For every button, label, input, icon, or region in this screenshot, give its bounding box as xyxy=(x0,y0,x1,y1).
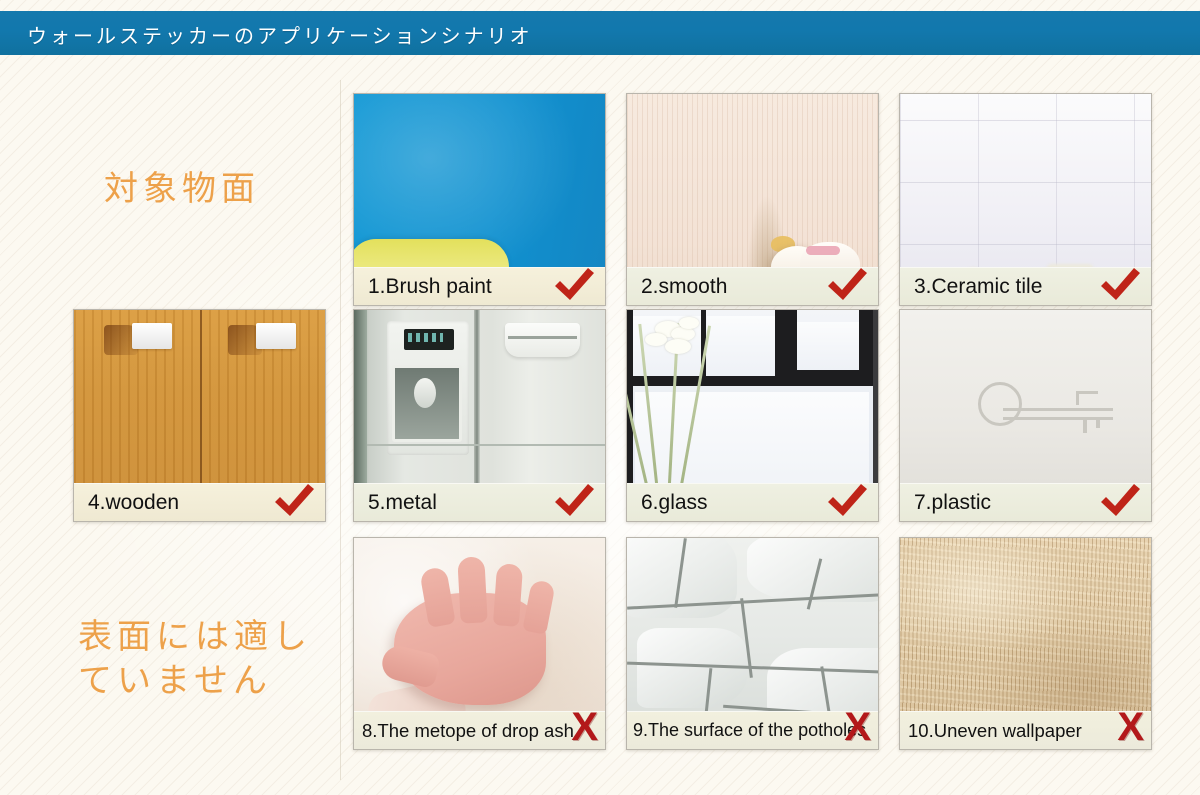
list-item[interactable]: PUSH 7.plastic xyxy=(899,309,1152,522)
caption-bar: 6.glass xyxy=(627,483,878,521)
check-mark-icon xyxy=(824,483,870,520)
caption-bar: 8.The metope of drop ash xyxy=(354,711,605,749)
check-mark-icon xyxy=(1097,483,1143,520)
caption-label: 1.Brush paint xyxy=(354,275,492,299)
list-item[interactable]: 2.smooth xyxy=(626,93,879,306)
caption-label: 7.plastic xyxy=(900,491,991,515)
header-band: ウォールステッカーのアプリケーションシナリオ xyxy=(0,11,1200,55)
caption-bar: 4.wooden xyxy=(74,483,325,521)
section-label-suitable: 対象物面 xyxy=(104,168,260,212)
caption-bar: 5.metal xyxy=(354,483,605,521)
list-item[interactable]: 1.Brush paint xyxy=(353,93,606,306)
cross-mark-icon: X xyxy=(571,707,597,747)
check-mark-icon xyxy=(551,483,597,520)
caption-bar: 3.Ceramic tile xyxy=(900,267,1151,305)
section-label-unsuitable: 表面には適し ていません xyxy=(78,616,312,703)
caption-bar: 7.plastic xyxy=(900,483,1151,521)
flower-decor xyxy=(637,323,707,502)
caption-bar: 10.Uneven wallpaper xyxy=(900,711,1151,749)
list-item[interactable]: 5.metal xyxy=(353,309,606,522)
list-item[interactable]: X 9.The surface of the potholes xyxy=(626,537,879,750)
caption-label: 9.The surface of the potholes xyxy=(627,720,866,741)
caption-bar: 2.smooth xyxy=(627,267,878,305)
list-item[interactable]: 4.wooden xyxy=(73,309,326,522)
caption-label: 6.glass xyxy=(627,491,708,515)
caption-bar: 9.The surface of the potholes xyxy=(627,711,878,749)
list-item[interactable]: X 8.The metope of drop ash xyxy=(353,537,606,750)
caption-label: 5.metal xyxy=(354,491,437,515)
caption-label: 10.Uneven wallpaper xyxy=(900,720,1082,742)
cross-mark-icon: X xyxy=(844,707,870,747)
key-symbol-icon xyxy=(978,382,1022,426)
list-item[interactable]: 6.glass xyxy=(626,309,879,522)
check-mark-icon xyxy=(271,483,317,520)
caption-label: 4.wooden xyxy=(74,491,179,515)
page-title: ウォールステッカーのアプリケーションシナリオ xyxy=(27,20,533,49)
check-mark-icon xyxy=(824,267,870,304)
caption-label: 2.smooth xyxy=(627,275,727,299)
caption-label: 3.Ceramic tile xyxy=(900,275,1042,299)
list-item[interactable]: X 10.Uneven wallpaper xyxy=(899,537,1152,750)
caption-label: 8.The metope of drop ash xyxy=(354,720,574,742)
list-item[interactable]: 3.Ceramic tile xyxy=(899,93,1152,306)
slide-canvas: ウォールステッカーのアプリケーションシナリオ 対象物面 表面には適し ていません… xyxy=(0,0,1200,795)
check-mark-icon xyxy=(1097,267,1143,304)
cross-mark-icon: X xyxy=(1117,707,1143,747)
caption-bar: 1.Brush paint xyxy=(354,267,605,305)
check-mark-icon xyxy=(551,267,597,304)
column-divider xyxy=(340,80,341,780)
